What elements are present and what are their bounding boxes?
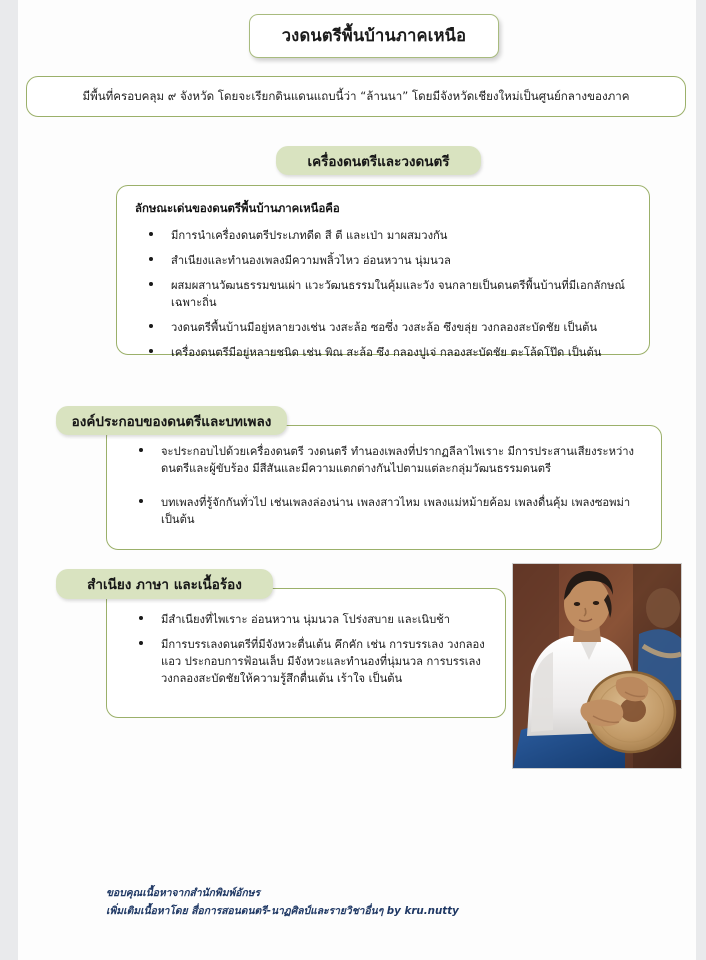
list-item-text: จะประกอบไปด้วยเครื่องดนตรี วงดนตรี ทำนอง…: [161, 445, 634, 475]
document-subtitle-text: มีพื้นที่ครอบคลุม ๙ จังหวัด โดยจะเรียกดิ…: [82, 88, 629, 106]
credit-line-2: เพิ่มเติมเนื้อหาโดย สื่อการสอนดนตรี-นาฏศ…: [106, 902, 666, 920]
section-tab-instruments: เครื่องดนตรีและวงดนตรี: [276, 146, 481, 175]
bullet-dot-icon: [149, 257, 153, 261]
list-item: มีการนำเครื่องดนตรีประเภทดีด สี ตี และเป…: [135, 227, 631, 244]
bullet-dot-icon: [139, 641, 143, 645]
bullet-dot-icon: [149, 349, 153, 353]
list-item: ผสมผสานวัฒนธรรมขนเผ่า แวะวัฒนธรรมในคุ้มแ…: [135, 277, 631, 311]
document-title: วงดนตรีพื้นบ้านภาคเหนือ: [249, 14, 499, 58]
bullet-dot-icon: [139, 448, 143, 452]
instruments-bullet-list: มีการนำเครื่องดนตรีประเภทดีด สี ตี และเป…: [135, 227, 631, 361]
document-title-text: วงดนตรีพื้นบ้านภาคเหนือ: [282, 28, 467, 45]
list-item-text: ผสมผสานวัฒนธรรมขนเผ่า แวะวัฒนธรรมในคุ้มแ…: [171, 279, 625, 309]
components-bullet-list: จะประกอบไปด้วยเครื่องดนตรี วงดนตรี ทำนอง…: [125, 443, 643, 528]
list-item-text: มีการนำเครื่องดนตรีประเภทดีด สี ตี และเป…: [171, 229, 447, 242]
section-tab-components-label: องค์ประกอบของดนตรีและบทเพลง: [72, 410, 272, 432]
instruments-lead-text: ลักษณะเด่นของดนตรีพื้นบ้านภาคเหนือคือ: [135, 200, 631, 218]
document-sheet: วงดนตรีพื้นบ้านภาคเหนือ มีพื้นที่ครอบคลุ…: [18, 0, 696, 960]
list-item: เครื่องดนตรีมีอยู่หลายชนิด เช่น พิณ สะล้…: [135, 344, 631, 361]
section-body-instruments: ลักษณะเด่นของดนตรีพื้นบ้านภาคเหนือคือ มี…: [116, 185, 650, 355]
list-item: บทเพลงที่รู้จักกันทั่วไป เช่นเพลงล่องน่า…: [125, 494, 643, 528]
list-item: วงดนตรีพื้นบ้านมีอยู่หลายวงเช่น วงสะล้อ …: [135, 319, 631, 336]
list-item-text: วงดนตรีพื้นบ้านมีอยู่หลายวงเช่น วงสะล้อ …: [171, 321, 597, 334]
section-body-dialect: มีสำเนียงที่ไพเราะ อ่อนหวาน นุ่มนวล โปร่…: [106, 588, 506, 718]
page-right-gutter: [696, 0, 706, 960]
bullet-dot-icon: [139, 499, 143, 503]
list-item: มีการบรรเลงดนตรีที่มีจังหวะตื่นเต้น คึกค…: [125, 636, 487, 687]
credit-block: ขอบคุณเนื้อหาจากสำนักพิมพ์อักษร เพิ่มเติ…: [106, 884, 666, 920]
list-item-text: เครื่องดนตรีมีอยู่หลายชนิด เช่น พิณ สะล้…: [171, 346, 601, 359]
section-tab-components: องค์ประกอบของดนตรีและบทเพลง: [56, 406, 287, 435]
bullet-dot-icon: [149, 324, 153, 328]
document-page: วงดนตรีพื้นบ้านภาคเหนือ มีพื้นที่ครอบคลุ…: [0, 0, 706, 960]
bullet-dot-icon: [139, 616, 143, 620]
bullet-dot-icon: [149, 232, 153, 236]
list-item-text: สำเนียงและทำนองเพลงมีความพลิ้วไหว อ่อนหว…: [171, 254, 451, 267]
page-left-gutter: [0, 0, 18, 960]
section-tab-dialect: สำเนียง ภาษา และเนื้อร้อง: [56, 569, 273, 599]
list-item: มีสำเนียงที่ไพเราะ อ่อนหวาน นุ่มนวล โปร่…: [125, 611, 487, 628]
credit-line-1: ขอบคุณเนื้อหาจากสำนักพิมพ์อักษร: [106, 884, 666, 902]
bullet-dot-icon: [149, 282, 153, 286]
dialect-bullet-list: มีสำเนียงที่ไพเราะ อ่อนหวาน นุ่มนวล โปร่…: [125, 611, 487, 687]
section-tab-instruments-label: เครื่องดนตรีและวงดนตรี: [307, 150, 449, 172]
list-item-text: บทเพลงที่รู้จักกันทั่วไป เช่นเพลงล่องน่า…: [161, 496, 630, 526]
musician-photo-image: [513, 564, 681, 768]
document-subtitle-box: มีพื้นที่ครอบคลุม ๙ จังหวัด โดยจะเรียกดิ…: [26, 76, 686, 117]
list-item-text: มีสำเนียงที่ไพเราะ อ่อนหวาน นุ่มนวล โปร่…: [161, 613, 450, 626]
list-item: จะประกอบไปด้วยเครื่องดนตรี วงดนตรี ทำนอง…: [125, 443, 643, 477]
section-tab-dialect-label: สำเนียง ภาษา และเนื้อร้อง: [87, 573, 242, 595]
list-item: สำเนียงและทำนองเพลงมีความพลิ้วไหว อ่อนหว…: [135, 252, 631, 269]
list-item-text: มีการบรรเลงดนตรีที่มีจังหวะตื่นเต้น คึกค…: [161, 638, 485, 685]
section-body-components: จะประกอบไปด้วยเครื่องดนตรี วงดนตรี ทำนอง…: [106, 425, 662, 550]
musician-photo: [512, 563, 682, 769]
